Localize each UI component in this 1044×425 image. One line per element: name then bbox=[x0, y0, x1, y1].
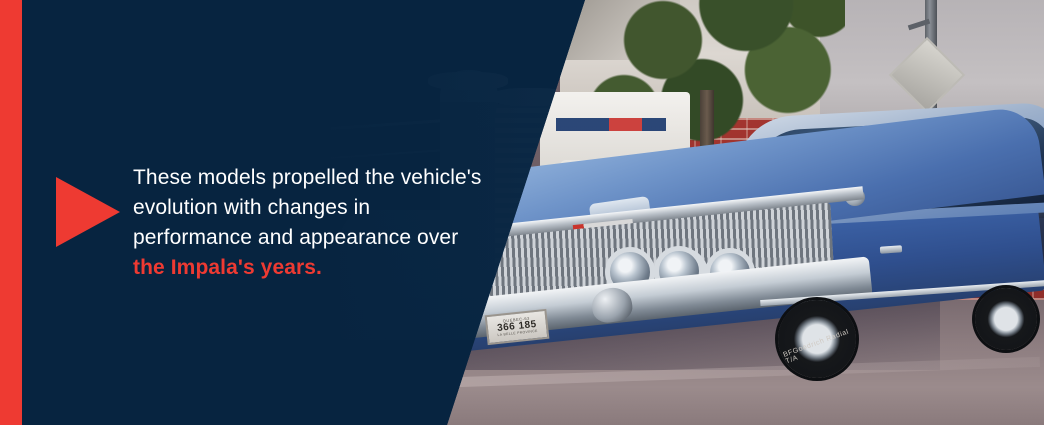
headline: These models propelled the vehicle's evo… bbox=[133, 163, 483, 283]
headline-accent-text: the Impala's years. bbox=[133, 256, 322, 279]
hero-banner: QUEBEC-63 366 185 LA BELLE PROVINCE BFGo… bbox=[0, 0, 1044, 425]
truck-sign-logo bbox=[556, 118, 666, 131]
red-accent-bar bbox=[0, 0, 22, 425]
rear-wheel bbox=[975, 288, 1037, 350]
headline-lead-text: These models propelled the vehicle's evo… bbox=[133, 166, 481, 249]
play-triangle-icon bbox=[56, 177, 120, 247]
ghost-spectator-a-hat bbox=[428, 72, 508, 90]
